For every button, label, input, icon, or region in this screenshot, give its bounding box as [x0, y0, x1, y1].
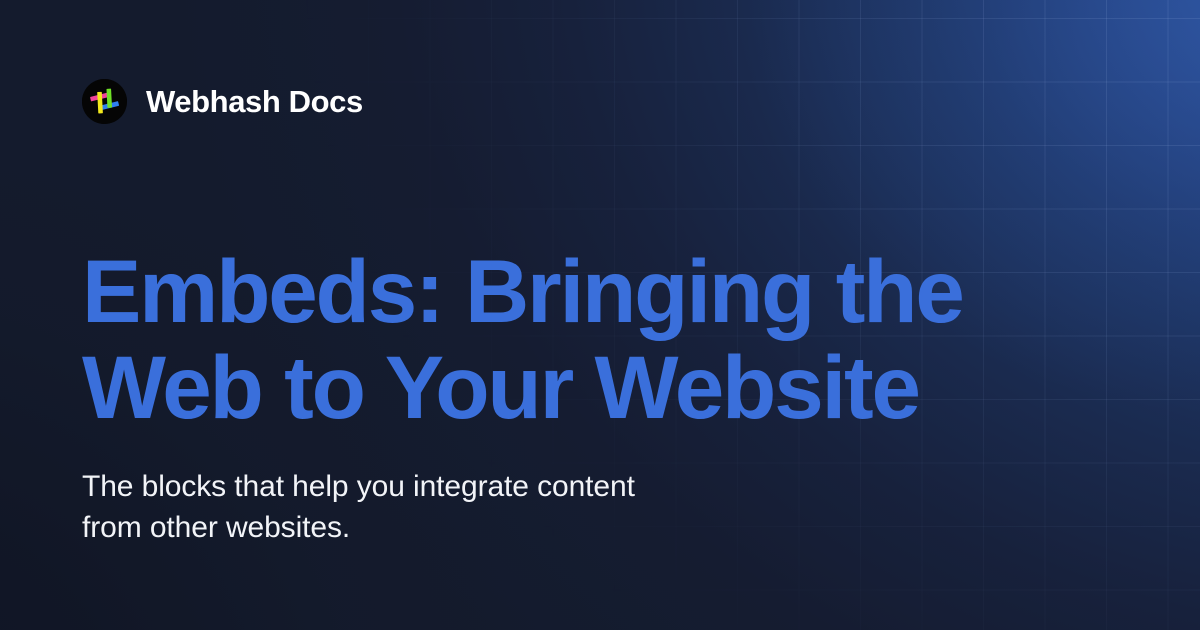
webhash-hash-logo-icon: [82, 79, 127, 124]
brand-name: Webhash Docs: [146, 86, 363, 117]
page-title: Embeds: Bringing the Web to Your Website: [82, 243, 1092, 435]
page-subtitle: The blocks that help you integrate conte…: [82, 466, 862, 548]
brand-lockup: Webhash Docs: [82, 79, 363, 124]
og-preview-card: Webhash Docs Embeds: Bringing the Web to…: [0, 0, 1200, 630]
card-content: Webhash Docs Embeds: Bringing the Web to…: [0, 0, 1200, 630]
